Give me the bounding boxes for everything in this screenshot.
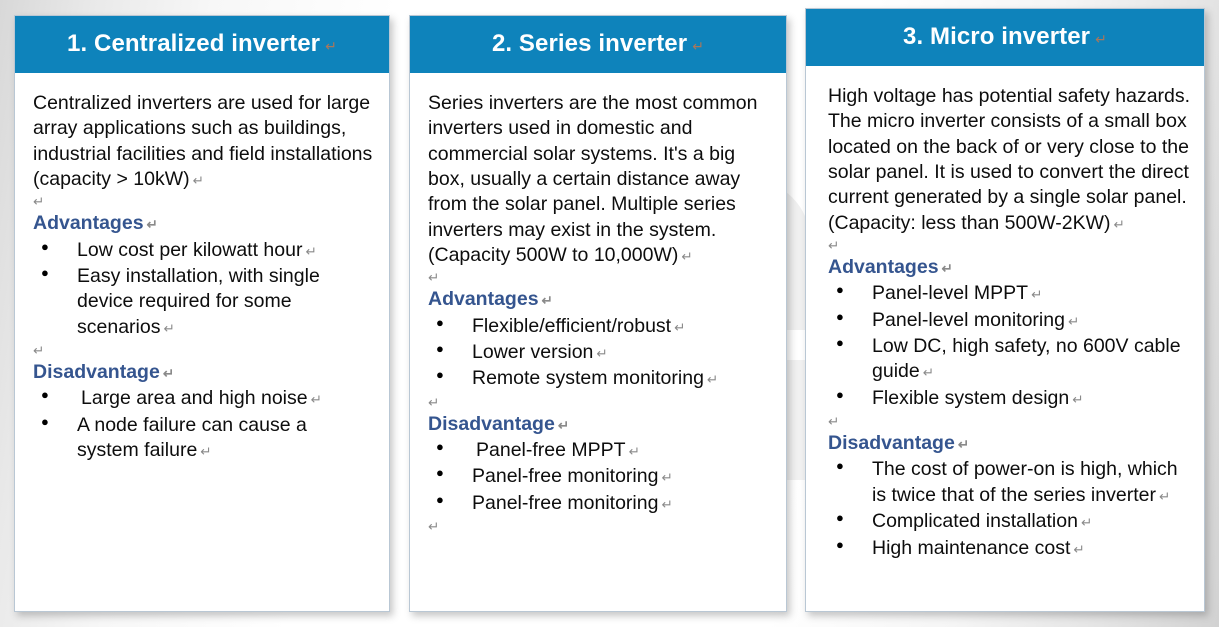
advantages-heading: Advantages↵ [828, 255, 1192, 280]
paragraph-mark-icon: ↵ [1065, 314, 1079, 329]
card-description: High voltage has potential safety hazard… [828, 84, 1192, 236]
advantages-heading: Advantages↵ [33, 211, 373, 236]
list-item: Remote system monitoring↵ [428, 366, 770, 391]
card-description-text: High voltage has potential safety hazard… [828, 85, 1190, 234]
list-item-text: Panel-free MPPT [476, 439, 626, 461]
paragraph-mark-icon: ↵ [687, 38, 704, 54]
list-item-text: Panel-free monitoring [472, 465, 658, 487]
paragraph-mark-icon: ↵ [320, 38, 337, 54]
list-item: Large area and high noise↵ [33, 386, 373, 411]
list-item: Flexible/efficient/robust↵ [428, 314, 770, 339]
disadvantage-heading-label: Disadvantage [428, 413, 555, 435]
paragraph-mark-icon: ↵ [593, 346, 607, 361]
card-title: 2. Series inverter [492, 30, 687, 57]
list-item-text: Complicated installation [872, 510, 1078, 532]
empty-paragraph: ↵ [428, 268, 770, 287]
paragraph-mark-icon: ↵ [828, 414, 839, 429]
disadvantage-heading: Disadvantage↵ [828, 431, 1192, 456]
paragraph-mark-icon: ↵ [1111, 217, 1125, 232]
list-item-text: Low cost per kilowatt hour [77, 239, 302, 261]
card-title: 3. Micro inverter [903, 23, 1090, 50]
paragraph-mark-icon: ↵ [671, 320, 685, 335]
paragraph-mark-icon: ↵ [33, 194, 44, 209]
list-item-text: Flexible/efficient/robust [472, 315, 671, 337]
list-item-text: High maintenance cost [872, 537, 1070, 559]
list-item-text: Flexible system design [872, 387, 1069, 409]
card-description-text: Series inverters are the most common inv… [428, 92, 757, 266]
paragraph-mark-icon: ↵ [1156, 489, 1170, 504]
advantages-list: Low cost per kilowatt hour↵ Easy install… [33, 238, 373, 340]
card-body-series: Series inverters are the most common inv… [410, 73, 786, 546]
list-item: Panel-level MPPT↵ [828, 281, 1192, 306]
slide-canvas: 1. Centralized inverter↵ Centralized inv… [0, 0, 1219, 627]
list-item: Panel-free monitoring↵ [428, 491, 770, 516]
list-item: Complicated installation↵ [828, 509, 1192, 534]
list-item-text: Low DC, high safety, no 600V cable guide [872, 335, 1181, 382]
card-header-series: 2. Series inverter↵ [410, 16, 786, 73]
list-item: Flexible system design↵ [828, 386, 1192, 411]
empty-paragraph: ↵ [828, 412, 1192, 431]
advantages-heading-label: Advantages [428, 288, 539, 310]
list-item: Easy installation, with single device re… [33, 264, 373, 340]
list-item-text: Panel-level monitoring [872, 309, 1065, 331]
advantages-list: Flexible/efficient/robust↵ Lower version… [428, 314, 770, 392]
advantages-heading-label: Advantages [828, 256, 939, 278]
card-description: Series inverters are the most common inv… [428, 91, 770, 268]
paragraph-mark-icon: ↵ [626, 444, 640, 459]
list-item-text: Panel-free monitoring [472, 492, 658, 514]
list-item: A node failure can cause a system failur… [33, 413, 373, 464]
paragraph-mark-icon: ↵ [308, 392, 322, 407]
advantages-list: Panel-level MPPT↵ Panel-level monitoring… [828, 281, 1192, 411]
paragraph-mark-icon: ↵ [678, 249, 692, 264]
paragraph-mark-icon: ↵ [197, 444, 211, 459]
list-item: Lower version↵ [428, 340, 770, 365]
list-item-text: Panel-level MPPT [872, 282, 1028, 304]
disadvantage-heading-label: Disadvantage [828, 432, 955, 454]
paragraph-mark-icon: ↵ [302, 244, 316, 259]
advantages-heading: Advantages↵ [428, 287, 770, 312]
list-item: Low cost per kilowatt hour↵ [33, 238, 373, 263]
advantages-heading-label: Advantages [33, 212, 144, 234]
list-item-text: Lower version [472, 341, 593, 363]
list-item: High maintenance cost↵ [828, 536, 1192, 561]
list-item-text: Large area and high noise [81, 387, 308, 409]
paragraph-mark-icon: ↵ [704, 372, 718, 387]
paragraph-mark-icon: ↵ [160, 366, 174, 381]
paragraph-mark-icon: ↵ [1070, 542, 1084, 557]
list-item: Panel-free monitoring↵ [428, 464, 770, 489]
list-item: The cost of power-on is high, which is t… [828, 457, 1192, 508]
list-item-text: A node failure can cause a system failur… [77, 414, 307, 461]
card-body-centralized: Centralized inverters are used for large… [15, 73, 389, 474]
disadvantages-list: Large area and high noise↵ A node failur… [33, 386, 373, 463]
paragraph-mark-icon: ↵ [428, 519, 439, 534]
inverter-card-centralized: 1. Centralized inverter↵ Centralized inv… [14, 15, 390, 612]
list-item-text: Remote system monitoring [472, 367, 704, 389]
paragraph-mark-icon: ↵ [539, 293, 553, 308]
paragraph-mark-icon: ↵ [920, 365, 934, 380]
paragraph-mark-icon: ↵ [1078, 515, 1092, 530]
card-header-centralized: 1. Centralized inverter↵ [15, 16, 389, 73]
empty-paragraph: ↵ [428, 517, 770, 536]
disadvantages-list: Panel-free MPPT↵ Panel-free monitoring↵ … [428, 438, 770, 516]
empty-paragraph: ↵ [33, 192, 373, 211]
inverter-card-series: 2. Series inverter↵ Series inverters are… [409, 15, 787, 612]
paragraph-mark-icon: ↵ [555, 418, 569, 433]
card-body-micro: High voltage has potential safety hazard… [806, 66, 1204, 572]
card-description: Centralized inverters are used for large… [33, 91, 373, 192]
disadvantage-heading: Disadvantage↵ [33, 360, 373, 385]
disadvantage-heading: Disadvantage↵ [428, 412, 770, 437]
card-header-micro: 3. Micro inverter↵ [806, 9, 1204, 66]
list-item-text: Easy installation, with single device re… [77, 265, 320, 338]
paragraph-mark-icon: ↵ [939, 261, 953, 276]
list-item: Low DC, high safety, no 600V cable guide… [828, 334, 1192, 385]
paragraph-mark-icon: ↵ [828, 238, 839, 253]
list-item: Panel-level monitoring↵ [828, 308, 1192, 333]
paragraph-mark-icon: ↵ [1090, 31, 1107, 47]
paragraph-mark-icon: ↵ [428, 395, 439, 410]
empty-paragraph: ↵ [33, 341, 373, 360]
paragraph-mark-icon: ↵ [160, 321, 174, 336]
paragraph-mark-icon: ↵ [1028, 287, 1042, 302]
disadvantages-list: The cost of power-on is high, which is t… [828, 457, 1192, 560]
paragraph-mark-icon: ↵ [428, 270, 439, 285]
paragraph-mark-icon: ↵ [1069, 392, 1083, 407]
list-item: Panel-free MPPT↵ [428, 438, 770, 463]
disadvantage-heading-label: Disadvantage [33, 361, 160, 383]
empty-paragraph: ↵ [828, 236, 1192, 255]
paragraph-mark-icon: ↵ [955, 437, 969, 452]
paragraph-mark-icon: ↵ [658, 497, 672, 512]
paragraph-mark-icon: ↵ [658, 470, 672, 485]
list-item-text: The cost of power-on is high, which is t… [872, 458, 1178, 505]
inverter-card-micro: 3. Micro inverter↵ High voltage has pote… [805, 8, 1205, 612]
empty-paragraph: ↵ [428, 393, 770, 412]
paragraph-mark-icon: ↵ [190, 173, 204, 188]
paragraph-mark-icon: ↵ [144, 217, 158, 232]
paragraph-mark-icon: ↵ [33, 343, 44, 358]
card-title: 1. Centralized inverter [67, 30, 320, 57]
